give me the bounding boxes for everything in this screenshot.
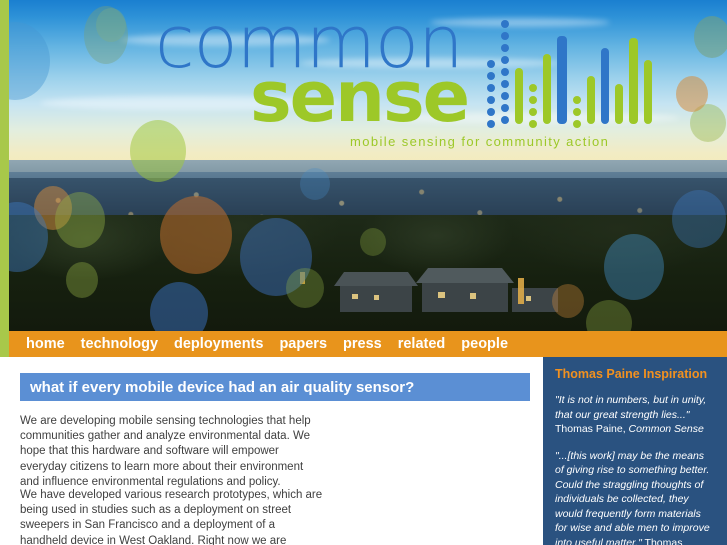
nav-link-press[interactable]: press <box>335 336 390 352</box>
window-glow <box>526 296 531 301</box>
decor-bubble <box>130 120 186 182</box>
nav-link-technology[interactable]: technology <box>73 336 166 352</box>
nav-item-papers[interactable]: papers <box>271 336 335 352</box>
eq-dot <box>573 108 581 116</box>
page-title: what if every mobile device had an air q… <box>20 379 414 396</box>
nav-item-related[interactable]: related <box>390 336 454 352</box>
eq-dot <box>487 72 495 80</box>
eq-dot <box>487 60 495 68</box>
eq-dot <box>501 32 509 40</box>
eq-bar <box>557 36 567 124</box>
eq-dot <box>501 44 509 52</box>
eq-dot <box>573 120 581 128</box>
eq-dot <box>529 84 537 92</box>
decor-bubble <box>604 234 664 300</box>
eq-dot <box>501 116 509 124</box>
eq-dot <box>529 120 537 128</box>
eq-bar <box>629 38 638 124</box>
sidebar-quote-2-text: "...[this work] may be the means of givi… <box>555 450 710 545</box>
decor-bubble <box>66 262 98 298</box>
nav-list: home technology deployments papers press… <box>9 336 516 352</box>
house-roof <box>416 268 514 283</box>
eq-dot <box>501 80 509 88</box>
logo-tagline: mobile sensing for community action <box>350 134 609 149</box>
main-navigation: home technology deployments papers press… <box>0 331 727 357</box>
decor-bubble <box>672 190 726 248</box>
house-roof <box>334 272 418 286</box>
nav-link-deployments[interactable]: deployments <box>166 336 271 352</box>
eq-bar <box>601 48 609 124</box>
logo-word-sense: sense <box>250 62 468 132</box>
decor-bubble <box>552 284 584 318</box>
nav-link-related[interactable]: related <box>390 336 454 352</box>
nav-link-papers[interactable]: papers <box>271 336 335 352</box>
eq-bar <box>587 76 595 124</box>
decor-bubble <box>694 16 727 58</box>
decor-bubble <box>676 76 708 112</box>
decor-bubble <box>55 192 105 248</box>
eq-dot <box>501 104 509 112</box>
intro-paragraph-2: We have developed various research proto… <box>20 488 325 545</box>
nav-accent-strip <box>0 331 9 357</box>
page-root: common sense mobile sensing for communit… <box>0 0 727 545</box>
eq-dot <box>487 108 495 116</box>
nav-item-deployments[interactable]: deployments <box>166 336 271 352</box>
houses-group <box>330 268 560 314</box>
nav-item-press[interactable]: press <box>335 336 390 352</box>
window-glow <box>438 292 445 298</box>
intro-paragraph-1: We are developing mobile sensing technol… <box>20 414 325 490</box>
window-glow <box>352 294 358 299</box>
window-glow <box>374 295 379 300</box>
decor-bubble <box>286 268 324 308</box>
sidebar-thomas-paine: Thomas Paine Inspiration "It is not in n… <box>543 357 727 545</box>
eq-bar <box>543 54 551 124</box>
eq-dot <box>501 56 509 64</box>
eq-bar <box>644 60 652 124</box>
eq-dot <box>501 92 509 100</box>
sidebar-attrib-1-work: Common Sense <box>629 423 704 435</box>
eq-dot <box>529 108 537 116</box>
page-headline-banner: what if every mobile device had an air q… <box>20 373 530 401</box>
left-accent-strip <box>0 0 9 331</box>
eq-bar <box>515 68 523 124</box>
eq-bar <box>615 84 623 124</box>
eq-dot <box>501 20 509 28</box>
eq-dot <box>487 96 495 104</box>
sidebar-quote-1: "It is not in numbers, but in unity, tha… <box>555 393 715 437</box>
street-lamp-glow <box>518 278 524 304</box>
sidebar-quote-1-text: "It is not in numbers, but in unity, tha… <box>555 394 706 421</box>
house <box>422 282 508 312</box>
eq-dot <box>487 120 495 128</box>
decor-bubble <box>360 228 386 256</box>
main-column: what if every mobile device had an air q… <box>0 357 543 545</box>
decor-bubble <box>160 196 232 274</box>
sidebar-title: Thomas Paine Inspiration <box>555 367 715 381</box>
hero-banner: common sense mobile sensing for communit… <box>0 0 727 331</box>
eq-dot <box>529 96 537 104</box>
nav-link-home[interactable]: home <box>18 336 73 352</box>
content-area: what if every mobile device had an air q… <box>0 357 727 545</box>
decor-bubble <box>300 168 330 200</box>
window-glow <box>470 293 476 299</box>
decor-bubble <box>96 8 126 42</box>
sidebar-quote-2: "...[this work] may be the means of givi… <box>555 449 715 545</box>
equalizer-graphic <box>487 22 662 132</box>
eq-dot <box>487 84 495 92</box>
eq-dot <box>501 68 509 76</box>
sidebar-attrib-1: Thomas Paine, Common Sense <box>555 423 704 435</box>
nav-item-home[interactable]: home <box>18 336 73 352</box>
nav-item-technology[interactable]: technology <box>73 336 166 352</box>
nav-link-people[interactable]: people <box>453 336 516 352</box>
nav-item-people[interactable]: people <box>453 336 516 352</box>
eq-dot <box>573 96 581 104</box>
sidebar-attrib-1-name: Thomas Paine, <box>555 423 629 435</box>
